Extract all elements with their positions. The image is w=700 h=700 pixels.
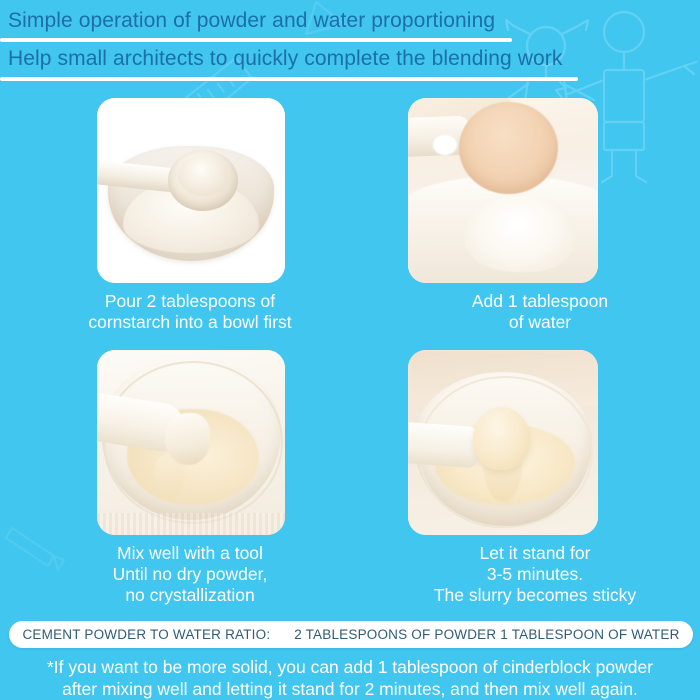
header-rule-2 [0,77,578,81]
spoon-bowl-shape [459,102,558,195]
caption-line: Mix well with a tool [0,543,380,564]
step-caption-4: Let it stand for 3-5 minutes. The slurry… [370,543,700,606]
step-caption-3: Mix well with a tool Until no dry powder… [0,543,380,606]
caption-line: Pour 2 tablespoons of [0,291,380,312]
ratio-value: 2 TABLESPOONS OF POWDER 1 TABLESPOON OF … [294,627,679,642]
powder-heap-shape [465,194,575,272]
footnote-line: after mixing well and letting it stand f… [0,678,700,700]
header-rule-1 [0,38,512,42]
caption-line: 3-5 minutes. [370,564,700,585]
photo-spoon-of-water [408,98,598,283]
step-photo-2 [408,98,598,283]
photo-bowl-of-cornstarch [97,98,285,283]
ratio-text: CEMENT POWDER TO WATER RATIO: 2 TABLESPO… [22,627,679,642]
caption-line: Add 1 tablespoon [390,291,690,312]
cloth-texture-shape [97,513,285,535]
step-photo-1 [97,98,285,283]
step-photo-4 [408,350,598,535]
caption-line: The slurry becomes sticky [370,585,700,606]
slurry-blob-shape [473,407,530,470]
caption-line: Until no dry powder, [0,564,380,585]
step-photo-3 [97,350,285,535]
spoon-tip-shape [165,413,210,465]
header-line-2: Help small architects to quickly complet… [8,47,562,71]
photo-mixing-slurry [97,350,285,535]
header-line-1: Simple operation of powder and water pro… [8,9,495,33]
footnote-line: *If you want to be more solid, you can a… [0,656,700,678]
photo-sticky-slurry [408,350,598,535]
ratio-label: CEMENT POWDER TO WATER RATIO: [22,627,270,642]
infographic-page: Simple operation of powder and water pro… [0,0,700,700]
step-caption-1: Pour 2 tablespoons of cornstarch into a … [0,291,380,333]
spoon-powder-mound-shape [178,155,229,196]
caption-line: of water [390,312,690,333]
step-caption-2: Add 1 tablespoon of water [390,291,690,333]
caption-line: Let it stand for [370,543,700,564]
ratio-bar: CEMENT POWDER TO WATER RATIO: 2 TABLESPO… [9,621,693,648]
header: Simple operation of powder and water pro… [0,0,700,92]
caption-line: no crystallization [0,585,380,606]
caption-line: cornstarch into a bowl first [0,312,380,333]
spoon-handle-shape [408,421,482,468]
footnote: *If you want to be more solid, you can a… [0,656,700,700]
